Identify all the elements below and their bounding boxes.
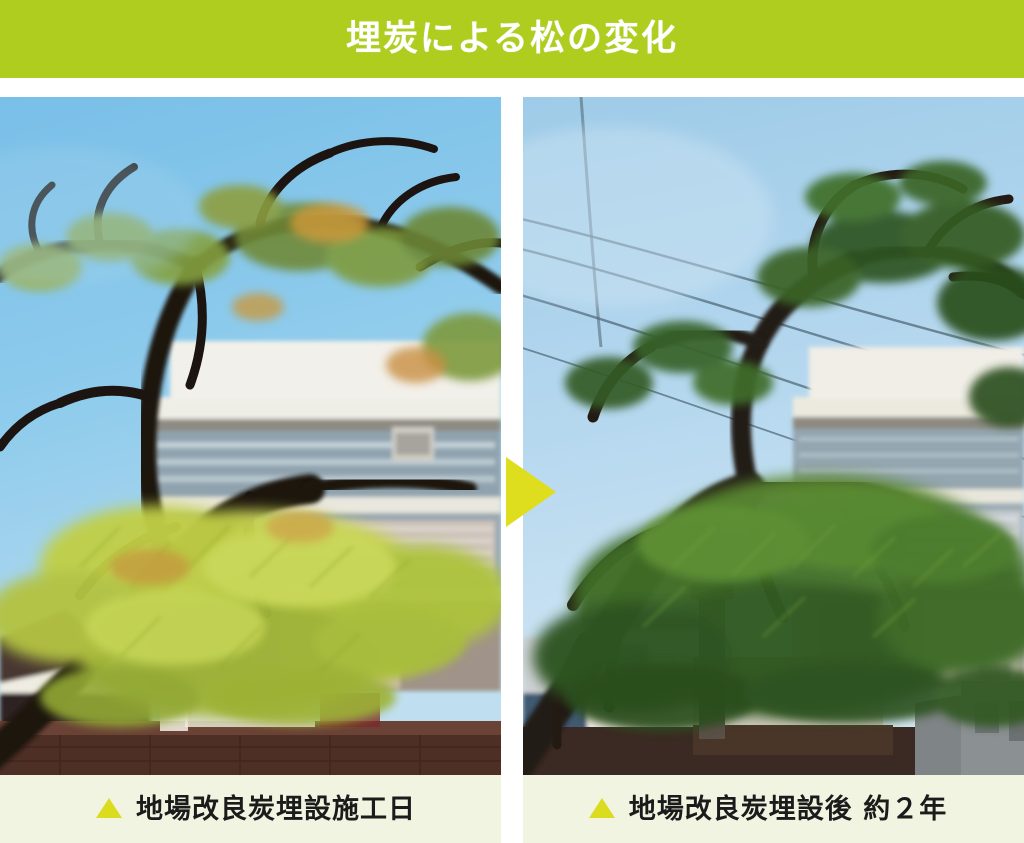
triangle-up-icon — [589, 798, 615, 818]
infographic-page: 埋炭による松の変化 — [0, 0, 1024, 843]
page-title: 埋炭による松の変化 — [346, 22, 678, 57]
before-caption: 地場改良炭埋設施工日 — [0, 775, 512, 843]
transition-arrow — [500, 455, 560, 529]
comparison-photo-row — [0, 97, 1024, 775]
after-photo-artwork — [523, 97, 1024, 775]
after-caption: 地場改良炭埋設後 約２年 — [512, 775, 1024, 843]
before-photo — [0, 97, 501, 775]
title-banner: 埋炭による松の変化 — [0, 0, 1024, 78]
triangle-up-icon — [96, 798, 122, 818]
after-caption-label: 地場改良炭埋設後 約２年 — [629, 796, 947, 823]
before-photo-artwork — [0, 97, 501, 775]
before-caption-label: 地場改良炭埋設施工日 — [136, 796, 416, 823]
after-photo — [523, 97, 1024, 775]
triangle-right-icon — [500, 455, 560, 529]
